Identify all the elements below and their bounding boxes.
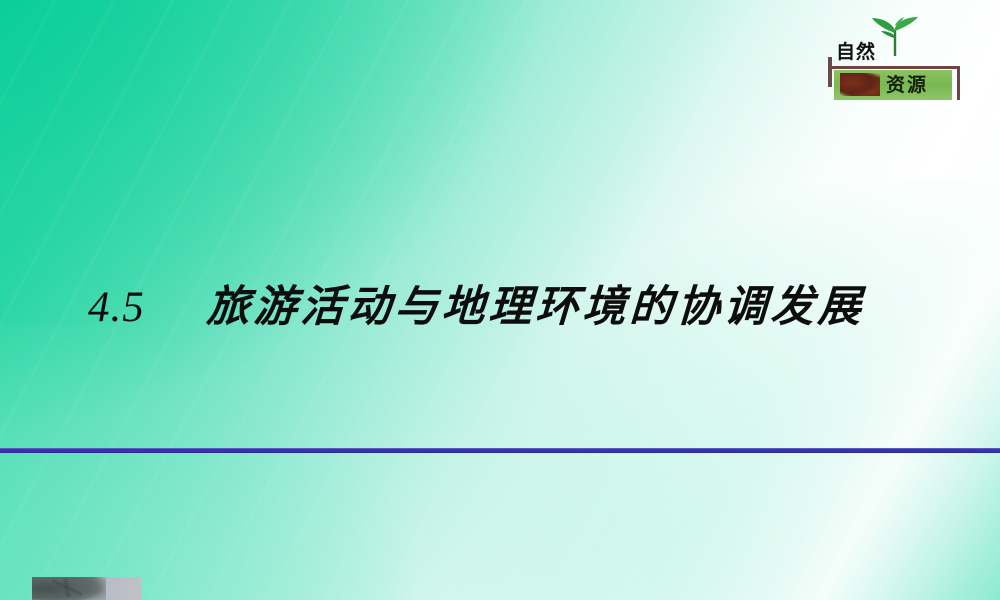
logo-label-ziyuan: 资源 — [886, 72, 928, 98]
logo-horizontal-rule — [828, 66, 960, 69]
landscape-photo — [32, 577, 141, 600]
photo-branch-layer — [52, 579, 82, 597]
logo-top-row: 自然 — [832, 40, 970, 66]
logo-green-panel: 资源 — [834, 70, 952, 100]
title-section-number: 4.5 — [88, 283, 145, 332]
slide-title: 4.5 旅游活动与地理环境的协调发展 — [88, 272, 865, 332]
logo-label-ziran: 自然 — [836, 40, 876, 64]
natural-resources-logo: 自然 资源 — [818, 16, 970, 110]
logo-right-rule — [957, 66, 960, 100]
presentation-slide: 自然 资源 4.5 旅游活动与地理环境的协调发展 — [0, 0, 1000, 600]
title-heading-text: 旅游活动与地理环境的协调发展 — [205, 272, 866, 334]
soil-clump-icon — [840, 73, 880, 96]
horizontal-divider-rule — [0, 448, 1000, 453]
